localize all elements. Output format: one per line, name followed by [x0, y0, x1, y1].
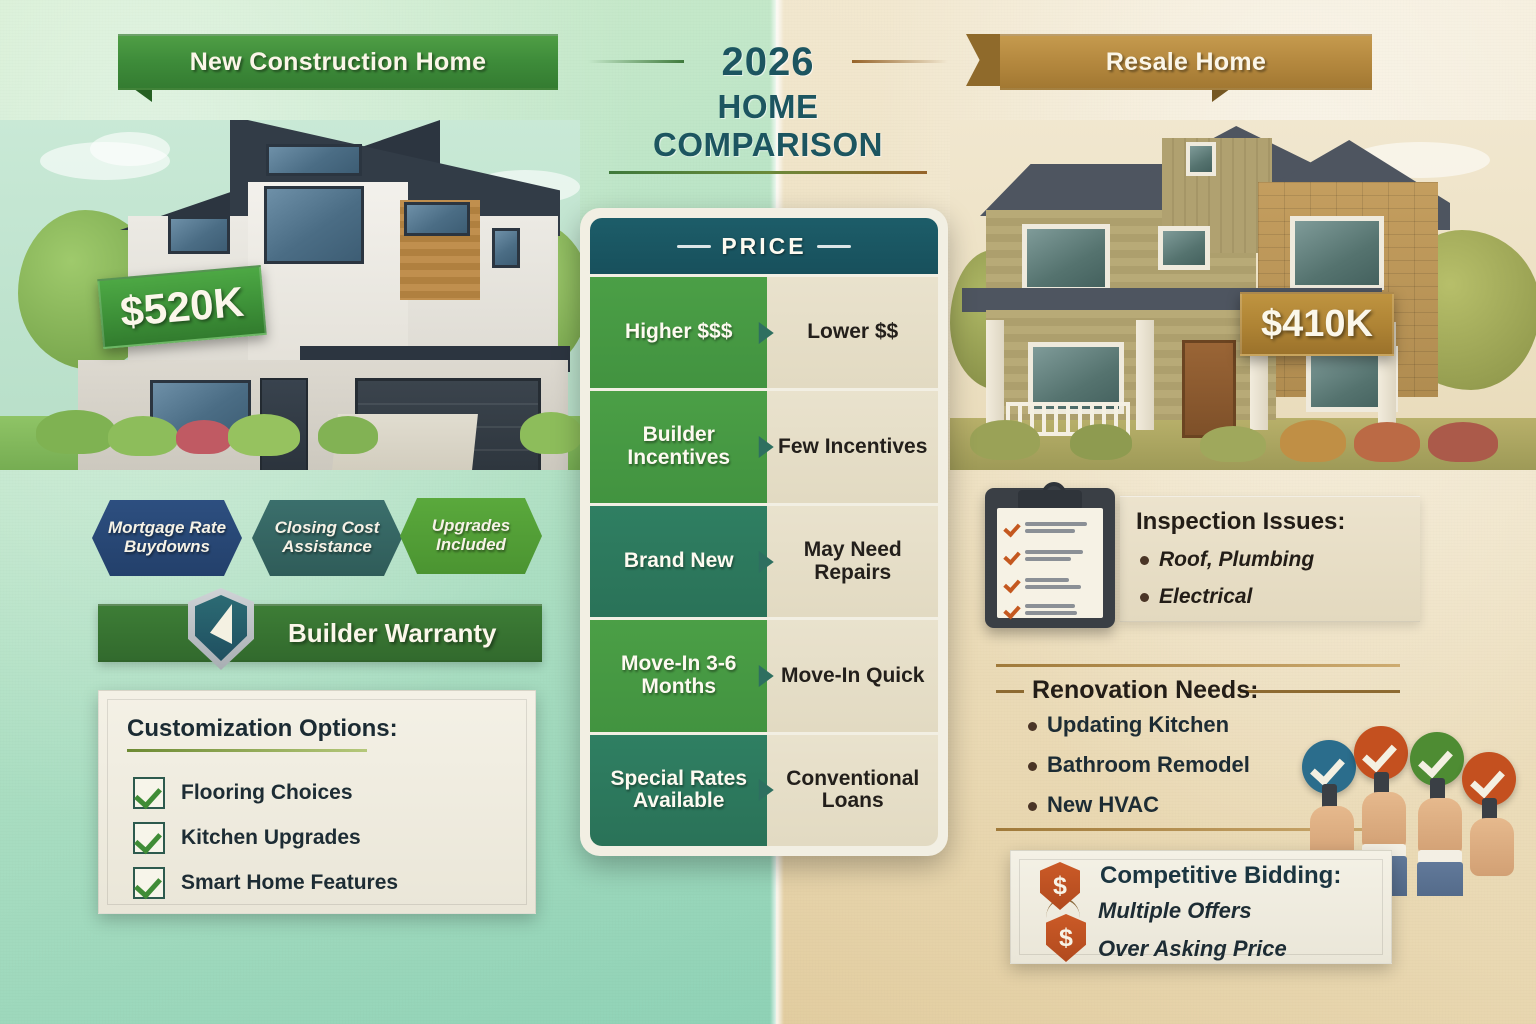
bush-icon — [228, 414, 300, 456]
window — [492, 228, 520, 268]
bush-icon — [520, 412, 580, 454]
table-cell-new: Brand New — [590, 506, 767, 617]
bidding-item: Over Asking Price — [1098, 936, 1287, 962]
arrow-icon — [759, 551, 774, 573]
clipboard-lines — [1025, 578, 1081, 589]
window — [168, 216, 230, 254]
window — [266, 144, 362, 176]
inspection-issue-label: Electrical — [1159, 585, 1252, 608]
attic-window — [1186, 142, 1216, 176]
badge-upgrades-included: Upgrades Included — [400, 498, 542, 574]
clipboard-line-item — [1005, 576, 1081, 590]
hand-icon — [1470, 818, 1514, 876]
table-cell-resale: Move-In Quick — [767, 620, 938, 731]
renovation-rule-top — [996, 664, 1400, 667]
clipboard-lines — [1025, 604, 1077, 615]
comparison-table-header: PRICE — [590, 218, 938, 274]
clipboard-page — [997, 508, 1103, 618]
bush-icon — [36, 410, 116, 454]
comparison-table: PRICE Higher $$$ Lower $$ Builder Incent… — [580, 208, 948, 856]
bullet-icon — [1028, 722, 1037, 731]
table-cell-resale: May Need Repairs — [767, 506, 938, 617]
porch-column — [986, 320, 1004, 430]
bidding-item: Multiple Offers — [1098, 898, 1252, 924]
window — [1158, 226, 1210, 270]
window — [264, 186, 364, 264]
bush-icon — [1354, 422, 1420, 462]
new-construction-price-tag: $520K — [97, 265, 266, 349]
customization-item-label: Smart Home Features — [181, 871, 398, 895]
bullet-icon — [1028, 802, 1037, 811]
customization-options-panel: Customization Options: Flooring Choices … — [98, 690, 536, 914]
front-door — [1182, 340, 1236, 438]
check-icon — [1005, 602, 1019, 616]
check-icon — [1005, 520, 1019, 534]
inspection-issue-label: Roof, Plumbing — [1159, 548, 1314, 571]
bush-icon — [970, 420, 1040, 460]
table-row: Special Rates Available Conventional Loa… — [590, 732, 938, 846]
check-icon — [1005, 576, 1019, 590]
customization-item: Kitchen Upgrades — [133, 822, 361, 854]
table-cell-new: Special Rates Available — [590, 735, 767, 846]
window — [1290, 216, 1384, 290]
renovation-dash — [996, 690, 1024, 693]
bush-icon — [1070, 424, 1132, 460]
clipboard-lines — [1025, 522, 1087, 533]
bush-icon — [1200, 426, 1266, 462]
bush-icon — [1280, 420, 1346, 462]
bush-icon — [176, 420, 232, 454]
inspection-issue-item: Roof, Plumbing — [1140, 548, 1314, 572]
clipboard-line-item — [1005, 548, 1083, 562]
title-rule-right — [852, 60, 948, 63]
clipboard-icon — [985, 488, 1115, 628]
renovation-needs-title: Renovation Needs: — [1032, 676, 1258, 705]
new-construction-banner: New Construction Home — [118, 34, 558, 90]
clipboard-line-item — [1005, 520, 1087, 534]
sleeve — [1417, 862, 1463, 896]
comparison-table-header-label: PRICE — [721, 233, 806, 260]
customization-item-label: Flooring Choices — [181, 781, 353, 805]
renovation-item-label: New HVAC — [1047, 792, 1159, 817]
clipboard-clip — [1018, 490, 1082, 510]
arrow-icon — [759, 779, 774, 801]
renovation-item: Updating Kitchen — [1028, 712, 1229, 738]
inspection-issue-item: Electrical — [1140, 585, 1252, 609]
customization-title: Customization Options: — [127, 715, 398, 743]
table-cell-resale: Conventional Loans — [767, 735, 938, 846]
table-cell-new: Higher $$$ — [590, 277, 767, 388]
renovation-item-label: Updating Kitchen — [1047, 712, 1229, 737]
builder-warranty-label: Builder Warranty — [288, 618, 497, 649]
header-dash-right — [817, 245, 851, 248]
builder-warranty-bar: Builder Warranty — [98, 604, 542, 662]
bush-icon — [318, 416, 378, 454]
window — [404, 202, 470, 236]
bush-icon — [108, 416, 178, 456]
porch-column — [1136, 320, 1154, 430]
check-icon — [1005, 548, 1019, 562]
renovation-item-label: Bathroom Remodel — [1047, 752, 1250, 777]
table-cell-new: Move-In 3-6 Months — [590, 620, 767, 731]
customization-item-label: Kitchen Upgrades — [181, 826, 361, 850]
clipboard-line-item — [1005, 602, 1077, 616]
arrow-icon — [759, 436, 774, 458]
checkbox-checked-icon — [133, 867, 165, 899]
checkbox-checked-icon — [133, 777, 165, 809]
renovation-item: Bathroom Remodel — [1028, 752, 1250, 778]
table-row: Brand New May Need Repairs — [590, 503, 938, 617]
bullet-icon — [1028, 762, 1037, 771]
resale-price-tag: $410K — [1240, 292, 1394, 356]
window — [1022, 224, 1110, 292]
table-row: Move-In 3-6 Months Move-In Quick — [590, 617, 938, 731]
arrow-icon — [759, 665, 774, 687]
new-construction-house-illustration — [0, 120, 580, 470]
checkbox-checked-icon — [133, 822, 165, 854]
clipboard-lines — [1025, 550, 1083, 561]
bush-icon — [1428, 422, 1498, 462]
inspection-issues-title: Inspection Issues: — [1136, 508, 1345, 536]
resale-home-banner: Resale Home — [1000, 34, 1372, 90]
customization-item: Flooring Choices — [133, 777, 353, 809]
table-row: Builder Incentives Few Incentives — [590, 388, 938, 502]
infographic-canvas: New Construction Home Resale Home 2026 H… — [0, 0, 1536, 1024]
bullet-icon — [1140, 556, 1149, 565]
header-dash-left — [677, 245, 711, 248]
arrow-icon — [759, 322, 774, 344]
customization-item: Smart Home Features — [133, 867, 398, 899]
table-row: Higher $$$ Lower $$ — [590, 274, 938, 388]
infographic-title: 2026 HOME COMPARISON — [598, 42, 938, 174]
table-cell-resale: Lower $$ — [767, 277, 938, 388]
customization-rule — [127, 749, 367, 752]
hand-icon — [1418, 798, 1462, 856]
badge-closing-cost-assistance: Closing Cost Assistance — [252, 500, 402, 576]
competitive-bidding-title: Competitive Bidding: — [1100, 862, 1341, 890]
hand-icon — [1362, 792, 1406, 850]
badge-mortgage-rate-buydowns: Mortgage Rate Buydowns — [92, 500, 242, 576]
title-rule-left — [588, 60, 684, 63]
cloud-icon — [90, 132, 170, 166]
renovation-line — [1240, 690, 1400, 693]
renovation-item: New HVAC — [1028, 792, 1159, 818]
bullet-icon — [1140, 593, 1149, 602]
title-main: HOME COMPARISON — [598, 88, 938, 164]
title-underline — [609, 171, 927, 174]
table-cell-new: Builder Incentives — [590, 391, 767, 502]
table-cell-resale: Few Incentives — [767, 391, 938, 502]
